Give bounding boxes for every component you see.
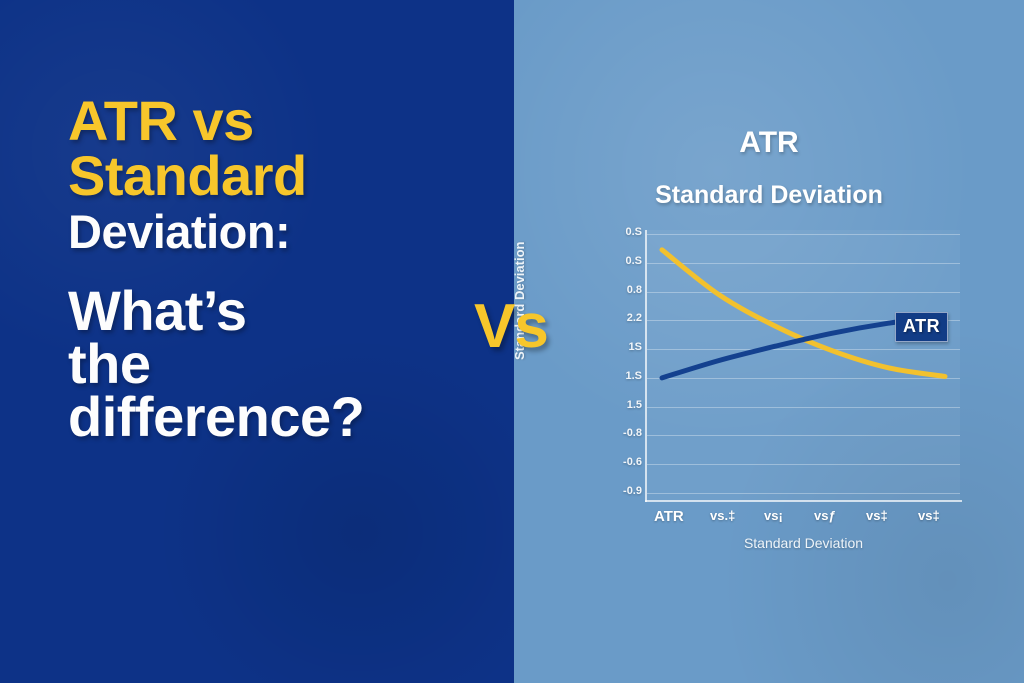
vs-badge: Vs [474,291,548,362]
x-tick-label: vs‡ [918,508,940,523]
series-badge-atr: ATR [895,312,948,342]
y-tick-label: 1.S [594,370,642,382]
y-axis-ticks: 0.S0.S0.82.21S1.S1.5-0.8-0.6-0.9 [586,0,642,683]
y-tick-label: 0.8 [594,284,642,296]
x-tick-label: vsƒ [814,508,836,523]
y-tick-label: 2.2 [594,312,642,324]
y-tick-label: 0.S [594,255,642,267]
headline-line-4: What’s [68,282,488,339]
y-tick-label: 0.S [594,226,642,238]
y-tick-label: -0.6 [594,456,642,468]
series-curves [645,230,960,501]
headline-block: ATR vs Standard Deviation: What’s the di… [68,92,488,445]
y-tick-label: 1S [594,341,642,353]
x-tick-label: vs‡ [866,508,888,523]
x-tick-label: vs¡ [764,508,783,523]
headline-line-3: Deviation: [68,208,488,256]
headline-line-6: difference? [68,388,488,445]
headline-line-2: Standard [68,147,488,204]
x-axis-title: Standard Deviation [645,535,962,551]
x-tick-label: vs.‡ [710,508,735,523]
x-tick-label: ATR [654,508,684,525]
poster-canvas: ATR vs Standard Deviation: What’s the di… [0,0,1024,683]
headline-line-1: ATR vs [68,92,488,149]
headline-line-5: the [68,335,488,392]
chart-figure: ATR Standard Deviation Standard Deviatio… [514,0,1024,683]
y-tick-label: 1.5 [594,399,642,411]
y-tick-label: -0.8 [594,427,642,439]
y-tick-label: -0.9 [594,485,642,497]
